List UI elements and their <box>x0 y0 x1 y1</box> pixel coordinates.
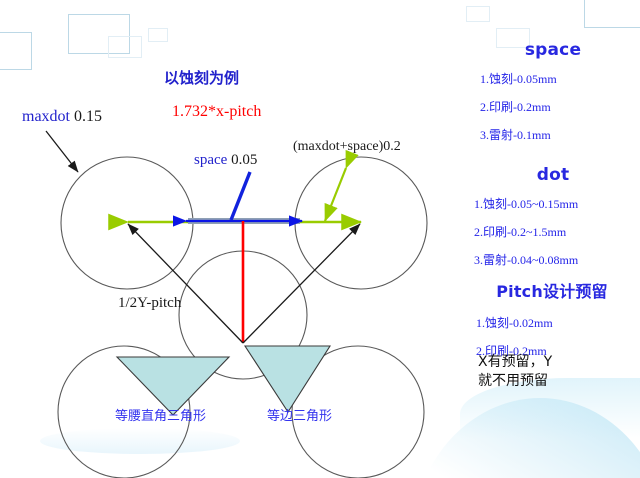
panel-space-line-3: 3.雷射-0.1mm <box>466 126 640 143</box>
panel-pitch: Pitch设计预留 1.蚀刻-0.02mm 2.印刷-0.2mm <box>462 278 640 359</box>
triangle-isosceles-right <box>117 357 229 415</box>
maxdot-value: 0.15 <box>70 108 102 125</box>
half-y-pitch-label: 1/2Y-pitch <box>118 295 181 312</box>
space-leader <box>231 172 250 220</box>
panel-dot-line-1: 1.蚀刻-0.05~0.15mm <box>466 195 640 212</box>
panel-dot-heading: dot <box>466 165 640 185</box>
panel-dot: dot 1.蚀刻-0.05~0.15mm 2.印刷-0.2~1.5mm 3.雷射… <box>466 165 640 268</box>
note-line-1: X有预留，Y <box>478 353 638 372</box>
maxdot-term: maxdot <box>22 108 70 125</box>
space-value: 0.05 <box>227 152 257 168</box>
maxdot-space-label: (maxdot+space)0.2 <box>293 139 401 154</box>
triangle-caption-1: 等腰直角三角形 <box>115 410 206 424</box>
panel-pitch-line-1: 1.蚀刻-0.02mm <box>462 314 640 331</box>
panel-space-line-2: 2.印刷-0.2mm <box>466 98 640 115</box>
space-label: space 0.05 <box>194 152 257 169</box>
slide-title: 以蚀刻为例 <box>164 70 239 87</box>
pitch-formula-label: 1.732*x-pitch <box>172 103 261 121</box>
panel-pitch-heading: Pitch设计预留 <box>462 278 640 302</box>
black-arrow-right <box>243 224 360 343</box>
panel-space-line-1: 1.蚀刻-0.05mm <box>466 70 640 87</box>
panel-space: space 1.蚀刻-0.05mm 2.印刷-0.2mm 3.雷射-0.1mm <box>466 40 640 143</box>
maxdot-leader <box>46 131 78 172</box>
slide-canvas: 以蚀刻为例 maxdot 0.15 1.732*x-pitch space 0.… <box>0 0 640 478</box>
note-line-2: 就不用预留 <box>478 372 638 391</box>
green-radius-arrow <box>325 168 346 221</box>
triangle-equilateral <box>245 346 330 412</box>
panel-dot-line-2: 2.印刷-0.2~1.5mm <box>466 223 640 240</box>
panel-dot-line-3: 3.雷射-0.04~0.08mm <box>466 251 640 268</box>
panel-space-heading: space <box>466 40 640 60</box>
note-block: X有预留，Y 就不用预留 <box>478 353 638 391</box>
black-arrow-left <box>128 224 243 343</box>
triangle-caption-2: 等边三角形 <box>267 410 332 424</box>
maxdot-label: maxdot 0.15 <box>22 108 102 126</box>
space-term: space <box>194 152 227 168</box>
